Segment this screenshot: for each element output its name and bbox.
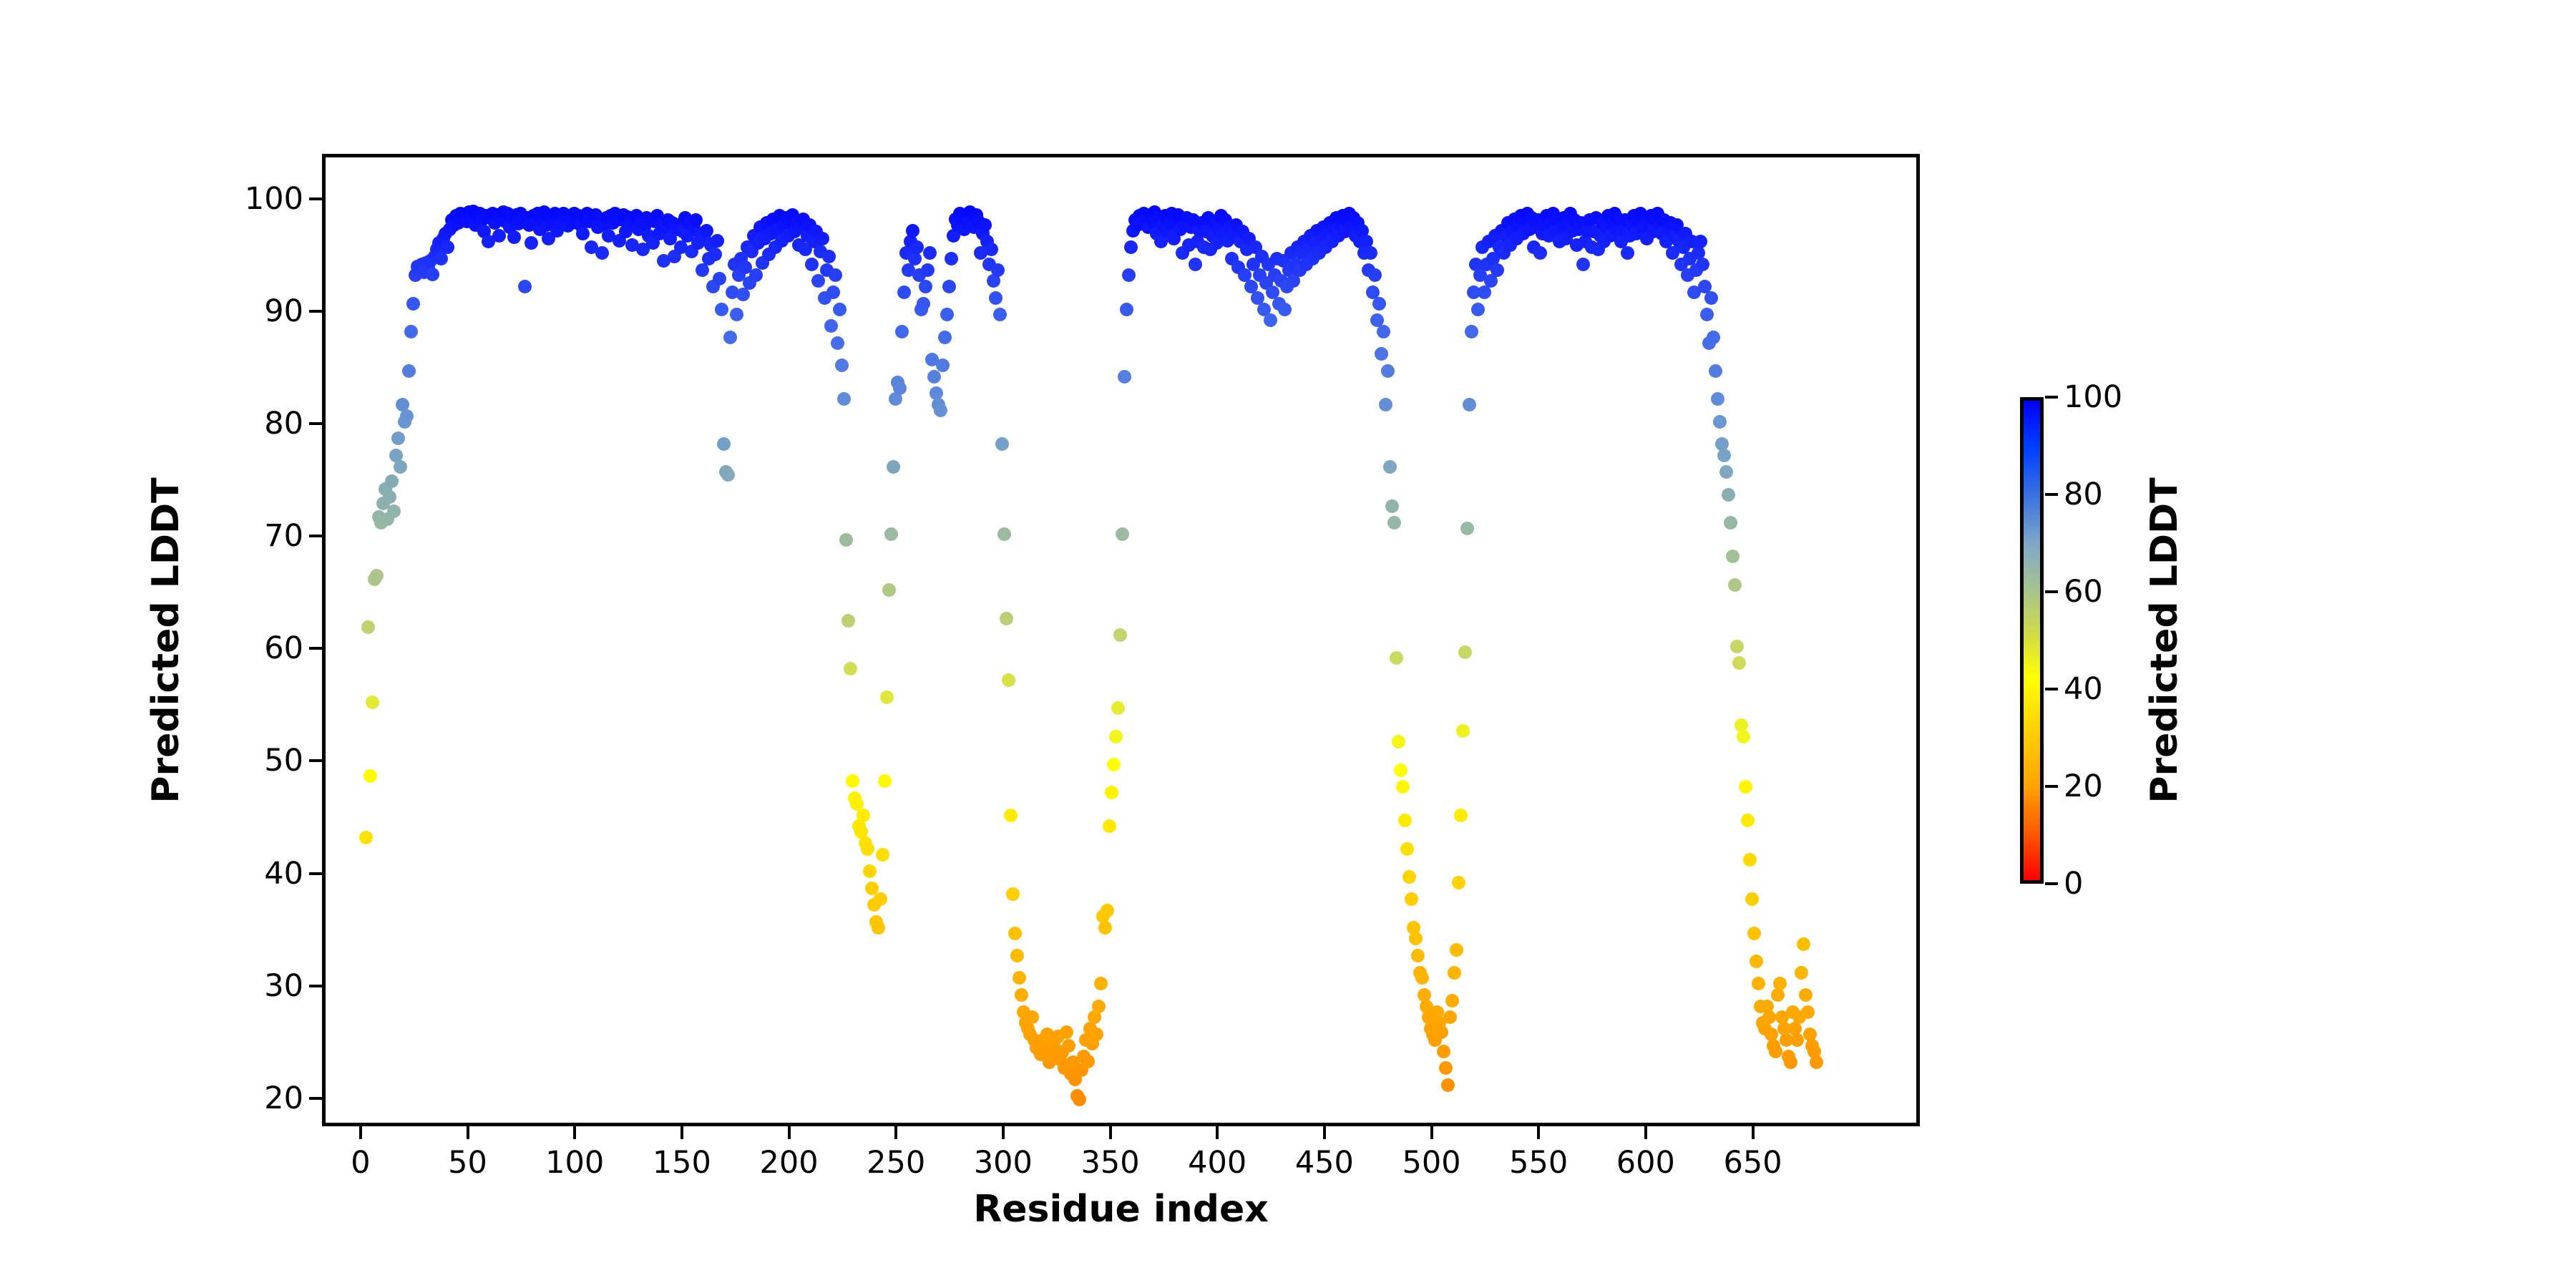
- scatter-point: [1491, 263, 1504, 277]
- scatter-point: [1385, 499, 1399, 513]
- scatter-point: [1000, 612, 1013, 625]
- scatter-point: [1621, 246, 1634, 260]
- scatter-point: [1460, 522, 1474, 535]
- scatter-point: [715, 303, 728, 316]
- scatter-point: [1402, 870, 1416, 884]
- x-tick-label: 150: [653, 1145, 711, 1181]
- y-tick-label: 20: [264, 1080, 303, 1116]
- scatter-point: [878, 774, 892, 788]
- scatter-point: [1002, 673, 1015, 687]
- y-tick-mark: [309, 535, 322, 537]
- scatter-point: [923, 246, 937, 260]
- scatter-point: [723, 331, 737, 344]
- scatter-point: [1709, 364, 1722, 378]
- scatter-point: [1387, 516, 1401, 530]
- scatter-point: [887, 460, 900, 474]
- scatter-point: [872, 921, 885, 935]
- scatter-point: [1445, 994, 1459, 1008]
- colorbar-tick-mark: [2045, 493, 2058, 496]
- scatter-point: [402, 364, 416, 378]
- x-tick-label: 250: [867, 1145, 925, 1181]
- x-tick-mark: [573, 1126, 576, 1139]
- scatter-point: [1379, 398, 1392, 411]
- scatter-point: [400, 409, 414, 423]
- scatter-point: [1398, 814, 1412, 827]
- scatter-point: [1576, 258, 1590, 271]
- y-axis-title: Predicted LDDT: [145, 477, 187, 803]
- scatter-point: [1719, 465, 1733, 479]
- scatter-point: [1747, 927, 1761, 940]
- scatter-point: [835, 358, 849, 372]
- scatter-point: [1073, 1093, 1086, 1106]
- scatter-point: [1743, 853, 1757, 867]
- scatter-point: [857, 809, 870, 822]
- x-tick-mark: [1430, 1126, 1433, 1139]
- scatter-point: [394, 460, 407, 474]
- scatter-point: [1810, 1055, 1823, 1069]
- scatter-point: [938, 331, 952, 344]
- scatter-point: [1004, 809, 1018, 822]
- scatter-point: [387, 504, 401, 518]
- x-tick-mark: [1537, 1126, 1540, 1139]
- scatter-point: [1264, 313, 1277, 327]
- scatter-point: [874, 892, 887, 906]
- scatter-point: [1381, 364, 1395, 378]
- scatter-point: [1450, 943, 1463, 957]
- scatter-point: [700, 224, 713, 238]
- colorbar-tick-mark: [2045, 688, 2058, 691]
- colorbar-title: Predicted LDDT: [2143, 477, 2186, 803]
- scatter-point: [359, 831, 373, 844]
- scatter-point: [1773, 977, 1787, 990]
- scatter-point: [895, 325, 909, 338]
- scatter-point: [749, 268, 763, 282]
- y-tick-label: 60: [264, 630, 303, 666]
- scatter-point: [1443, 1010, 1457, 1024]
- colorbar-tick-mark: [2045, 785, 2058, 788]
- scatter-point: [841, 614, 855, 628]
- scatter-point: [837, 392, 851, 406]
- x-tick-label: 0: [351, 1145, 370, 1181]
- x-tick-mark: [1644, 1126, 1647, 1139]
- scatter-point: [1090, 1028, 1103, 1041]
- y-tick-label: 90: [264, 293, 303, 329]
- x-tick-mark: [467, 1126, 469, 1139]
- scatter-point: [884, 527, 898, 541]
- scatter-point: [1124, 240, 1138, 254]
- scatter-point: [936, 358, 950, 372]
- scatter-point: [1711, 392, 1724, 406]
- scatter-point: [1101, 904, 1114, 917]
- scatter-point: [1700, 308, 1714, 321]
- x-tick-mark: [680, 1126, 683, 1139]
- y-tick-mark: [309, 985, 322, 987]
- x-tick-mark: [359, 1126, 362, 1139]
- scatter-point: [989, 291, 1002, 305]
- scatter-point: [1454, 809, 1468, 822]
- x-tick-label: 300: [974, 1145, 1033, 1181]
- scatter-point: [942, 280, 956, 293]
- scatter-point: [893, 381, 907, 395]
- y-tick-label: 50: [264, 743, 303, 779]
- scatter-point: [1409, 932, 1423, 945]
- scatter-point: [1452, 876, 1465, 889]
- scatter-point: [1784, 1055, 1797, 1069]
- x-tick-label: 400: [1188, 1145, 1246, 1181]
- scatter-point: [997, 527, 1011, 541]
- scatter-point: [906, 224, 919, 238]
- y-tick-mark: [309, 759, 322, 762]
- scatter-point: [927, 370, 941, 384]
- scatter-point: [1006, 887, 1020, 901]
- scatter-point: [1008, 927, 1022, 940]
- scatter-point: [370, 569, 384, 582]
- scatter-point: [1769, 1045, 1782, 1058]
- scatter-point: [831, 336, 844, 350]
- scatter-point: [708, 248, 722, 261]
- y-tick-mark: [309, 310, 322, 313]
- scatter-point: [1728, 578, 1742, 592]
- scatter-point: [993, 308, 1007, 321]
- colorbar-tick-label: 60: [2064, 574, 2103, 610]
- scatter-point: [1732, 656, 1746, 670]
- x-tick-label: 600: [1616, 1145, 1675, 1181]
- scatter-point: [1383, 460, 1397, 474]
- scatter-point: [917, 297, 930, 311]
- y-tick-label: 70: [264, 518, 303, 554]
- scatter-point: [978, 218, 992, 232]
- scatter-point: [1122, 268, 1136, 282]
- scatter-point: [1060, 1025, 1073, 1039]
- scatter-point: [1463, 398, 1476, 411]
- x-tick-mark: [1109, 1126, 1112, 1139]
- scatter-point: [1795, 966, 1808, 980]
- scatter-points-layer: [326, 157, 1916, 1123]
- scatter-point: [361, 620, 375, 634]
- scatter-point: [995, 437, 1009, 451]
- scatter-point: [1533, 246, 1547, 260]
- scatter-point: [1741, 814, 1755, 827]
- scatter-point: [1801, 1005, 1815, 1019]
- scatter-point: [366, 696, 379, 709]
- scatter-point: [1105, 786, 1118, 799]
- scatter-point: [1694, 235, 1707, 248]
- colorbar-tick-label: 80: [2064, 477, 2103, 512]
- x-tick-label: 200: [759, 1145, 818, 1181]
- scatter-point: [1025, 1010, 1039, 1024]
- scatter-point: [1458, 645, 1472, 659]
- colorbar-tick-label: 40: [2064, 671, 2103, 707]
- y-tick-mark: [309, 1097, 322, 1100]
- x-tick-mark: [1752, 1126, 1755, 1139]
- scatter-point: [1400, 842, 1414, 856]
- scatter-point: [1118, 370, 1131, 384]
- scatter-point: [1405, 892, 1418, 906]
- scatter-point: [1098, 921, 1112, 935]
- scatter-point: [829, 268, 842, 282]
- scatter-point: [1092, 1000, 1106, 1013]
- scatter-point: [1113, 628, 1127, 642]
- scatter-point: [1456, 724, 1470, 738]
- scatter-point: [1750, 955, 1763, 968]
- scatter-point: [1704, 291, 1718, 305]
- scatter-point: [846, 774, 859, 788]
- scatter-point: [863, 864, 877, 878]
- scatter-point: [1377, 325, 1390, 338]
- colorbar-tick-mark: [2045, 590, 2058, 593]
- scatter-point: [833, 303, 847, 316]
- scatter-point: [811, 274, 825, 288]
- scatter-point: [919, 280, 932, 293]
- scatter-point: [824, 319, 838, 333]
- scatter-point: [1415, 971, 1429, 985]
- scatter-point: [1745, 892, 1759, 906]
- scatter-point: [921, 263, 935, 277]
- scatter-point: [897, 286, 911, 299]
- x-tick-mark: [1216, 1126, 1219, 1139]
- scatter-point: [1696, 258, 1709, 271]
- y-tick-label: 30: [264, 968, 303, 1004]
- scatter-point: [1375, 347, 1388, 361]
- scatter-point: [1713, 415, 1727, 429]
- colorbar: [2020, 397, 2044, 884]
- scatter-point: [1015, 988, 1028, 1002]
- x-tick-mark: [1323, 1126, 1326, 1139]
- scatter-point: [1364, 246, 1377, 260]
- figure-canvas: 050100150200250300350400450500550600650 …: [0, 0, 2576, 1288]
- scatter-point: [1448, 966, 1461, 980]
- scatter-point: [822, 250, 836, 263]
- scatter-point: [1752, 977, 1765, 990]
- y-tick-mark: [309, 422, 322, 425]
- scatter-point: [1189, 258, 1202, 271]
- scatter-point: [826, 286, 840, 299]
- scatter-point: [507, 230, 521, 244]
- scatter-point: [730, 308, 743, 321]
- x-tick-label: 450: [1295, 1145, 1354, 1181]
- scatter-point: [1471, 303, 1485, 316]
- scatter-point: [910, 240, 924, 254]
- scatter-point: [518, 280, 532, 293]
- x-tick-label: 500: [1402, 1145, 1460, 1181]
- scatter-point: [934, 404, 947, 417]
- scatter-point: [364, 769, 377, 783]
- colorbar-tick-label: 0: [2064, 866, 2083, 902]
- scatter-point: [1465, 325, 1478, 338]
- colorbar-tick-mark: [2045, 882, 2058, 885]
- scatter-point: [805, 258, 819, 271]
- scatter-point: [385, 474, 399, 488]
- x-tick-label: 100: [545, 1145, 604, 1181]
- scatter-point: [1094, 977, 1108, 990]
- scatter-point: [1013, 971, 1026, 985]
- y-tick-label: 40: [264, 856, 303, 892]
- x-tick-mark: [894, 1126, 897, 1139]
- scatter-point: [1797, 937, 1810, 951]
- scatter-point: [1103, 819, 1116, 833]
- scatter-point: [1771, 988, 1785, 1002]
- scatter-point: [991, 263, 1005, 277]
- scatter-point: [1411, 949, 1425, 962]
- scatter-point: [1116, 527, 1129, 541]
- y-tick-mark: [309, 647, 322, 650]
- scatter-point: [1722, 488, 1735, 502]
- scatter-point: [1724, 516, 1737, 530]
- colorbar-tick-label: 100: [2064, 379, 2122, 415]
- scatter-point: [441, 240, 454, 254]
- x-tick-label: 650: [1723, 1145, 1782, 1181]
- scatter-point: [876, 848, 889, 862]
- scatter-point: [1439, 1061, 1453, 1075]
- scatter-point: [1726, 550, 1740, 563]
- scatter-point: [1739, 780, 1752, 794]
- x-tick-label: 550: [1509, 1145, 1568, 1181]
- scatter-point: [1278, 303, 1292, 316]
- scatter-point: [1730, 640, 1744, 653]
- scatter-point: [713, 272, 726, 286]
- scatter-point: [426, 268, 439, 281]
- scatter-point: [1109, 730, 1123, 743]
- scatter-point: [816, 232, 829, 245]
- scatter-point: [985, 243, 998, 256]
- scatter-point: [1010, 949, 1024, 962]
- scatter-point: [595, 246, 609, 260]
- x-tick-label: 50: [448, 1145, 487, 1181]
- scatter-point: [861, 842, 874, 856]
- scatter-point: [1437, 1045, 1450, 1058]
- scatter-point: [1394, 763, 1407, 777]
- scatter-point: [1737, 730, 1750, 743]
- scatter-point: [1107, 758, 1121, 771]
- scatter-point: [880, 691, 894, 704]
- x-tick-mark: [788, 1126, 791, 1139]
- y-tick-mark: [309, 197, 322, 200]
- scatter-point: [1762, 1010, 1776, 1024]
- scatter-point: [1717, 449, 1731, 462]
- x-axis-title: Residue index: [322, 1188, 1920, 1231]
- scatter-point: [525, 236, 538, 250]
- scatter-point: [1799, 988, 1813, 1002]
- scatter-point: [711, 234, 724, 248]
- scatter-point: [839, 533, 853, 547]
- colorbar-tick-mark: [2045, 396, 2058, 399]
- scatter-point: [1707, 331, 1720, 344]
- scatter-point: [1372, 297, 1386, 311]
- scatter-point: [908, 252, 922, 265]
- x-tick-mark: [1002, 1126, 1005, 1139]
- scatter-point: [1392, 735, 1405, 748]
- scatter-point: [406, 297, 420, 311]
- scatter-point: [1120, 303, 1133, 316]
- scatter-point: [721, 468, 735, 482]
- colorbar-tick-label: 20: [2064, 769, 2103, 804]
- scatter-point: [1081, 1055, 1095, 1068]
- scatter-point: [717, 437, 731, 451]
- scatter-point: [882, 583, 896, 597]
- x-tick-label: 350: [1080, 1145, 1139, 1181]
- scatter-point: [1368, 268, 1382, 282]
- scatter-point: [391, 431, 405, 445]
- scatter-point: [1390, 651, 1403, 665]
- scatter-point: [1441, 1078, 1455, 1092]
- scatter-point: [404, 325, 418, 338]
- scatter-point: [736, 288, 750, 301]
- scatter-point: [1790, 1033, 1804, 1047]
- scatter-point: [576, 227, 590, 240]
- scatter-point: [1396, 780, 1410, 794]
- y-tick-mark: [309, 872, 322, 875]
- scatter-point: [1062, 1039, 1075, 1053]
- scatter-point: [1435, 1025, 1448, 1039]
- scatter-point: [945, 252, 958, 265]
- plot-area: [322, 154, 1920, 1126]
- scatter-point: [940, 308, 954, 321]
- y-tick-label: 100: [245, 181, 303, 217]
- scatter-point: [383, 490, 396, 504]
- y-tick-label: 80: [264, 406, 303, 441]
- scatter-point: [689, 213, 703, 227]
- scatter-point: [1111, 701, 1125, 715]
- scatter-point: [844, 662, 857, 675]
